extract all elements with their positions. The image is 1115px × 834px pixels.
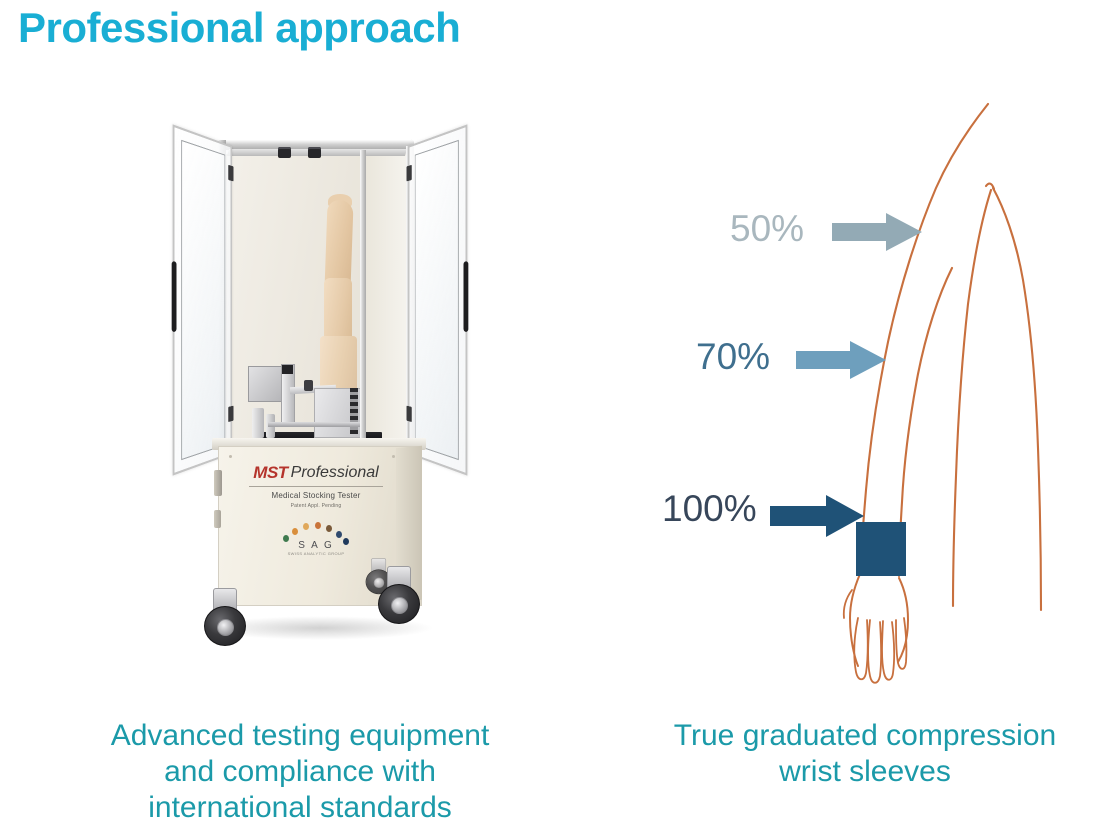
door-left-glass [181,140,225,460]
brand-professional: Professional [291,464,379,482]
console-brand-label: MSTProfessional Medical Stocking Tester … [241,463,391,509]
left-panel: MSTProfessional Medical Stocking Tester … [0,70,590,834]
label-70-percent: 70% [696,336,770,378]
brand-mst: MST [253,463,287,483]
sag-dot-2 [292,528,298,535]
apparatus-cross-bar [268,422,364,427]
door-left-hinge-top [228,165,233,182]
arrow-100-percent [770,494,866,538]
sag-logo-text: S A G [277,540,355,551]
cabinet-latch-upper[interactable] [214,470,222,496]
door-left-hinge-bottom [228,406,233,422]
frame-rail-center [360,150,366,446]
top-clamp-left [278,147,291,158]
machine-subtitle-small: Patent Appl. Pending [241,503,391,509]
label-50-percent: 50% [730,208,804,250]
arrow-50-percent [832,212,924,252]
sag-logo: S A G SWISS ANALYTIC GROUP [277,521,355,561]
sag-dot-5 [326,525,332,532]
door-right-hinge-top [407,165,412,182]
sag-dot-6 [336,531,342,538]
sag-logo-tagline: SWISS ANALYTIC GROUP [277,551,355,556]
mst-professional-machine-photo: MSTProfessional Medical Stocking Tester … [140,118,540,708]
door-right-hinge-bottom [407,406,412,422]
cabinet-latch-lower[interactable] [214,510,221,528]
right-caption: True graduated compression wrist sleeves [650,718,1080,790]
sag-dot-4 [315,522,321,529]
measurement-apparatus [248,362,394,450]
compression-gradient-diagram: 50% 70% 100% [600,90,1115,690]
caster-front-right [378,566,418,620]
machine-subtitle: Medical Stocking Tester [241,491,391,500]
apparatus-slotted-rail [350,388,358,434]
wrist-compression-band [860,522,906,576]
page-title: Professional approach [18,4,460,52]
caster-front-left [204,588,244,642]
glass-door-left[interactable] [173,124,232,475]
caster-front-left-hub [217,619,234,636]
apparatus-clamp [304,380,313,391]
door-right-handle[interactable] [463,261,468,332]
apparatus-post-cap [282,365,293,374]
door-left-handle[interactable] [172,261,177,332]
glass-door-right[interactable] [408,124,467,475]
panel-screw-tr [392,455,395,458]
right-panel: 50% 70% 100% True graduated compression … [600,70,1115,834]
brand-divider [249,486,383,487]
slide-root: Professional approach [0,0,1115,834]
caster-front-right-hub [391,597,408,614]
label-100-percent: 100% [662,488,757,530]
door-right-glass [415,140,459,460]
arm-illustration [600,90,1115,690]
top-clamp-right [308,147,321,158]
panel-screw-tl [229,455,232,458]
sag-dot-3 [303,523,309,530]
arrow-70-percent [796,340,888,380]
test-cabinet [212,140,422,450]
brand-line: MSTProfessional [241,463,391,483]
left-caption: Advanced testing equipment and complianc… [40,718,560,826]
apparatus-cylinder-a [252,408,264,438]
